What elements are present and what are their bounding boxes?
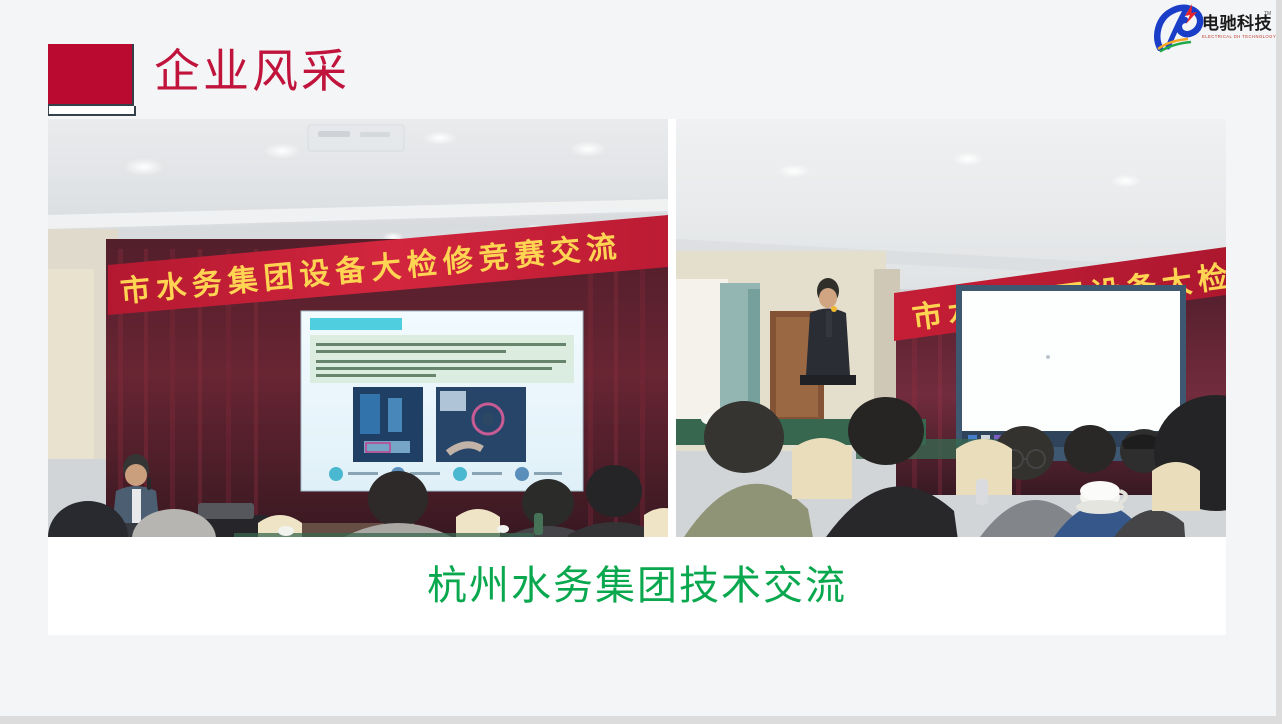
company-logo: 电驰科技 ELECTRICAL DH TECHNOLOGY TM — [1152, 2, 1276, 54]
logo-wordmark: 电驰科技 ELECTRICAL DH TECHNOLOGY TM — [1202, 11, 1276, 39]
title-accent-block — [48, 44, 134, 106]
logo-ribbon — [1158, 39, 1191, 52]
svg-text:TM: TM — [1264, 11, 1271, 17]
title-accent-underline — [48, 106, 136, 116]
slide-canvas: 企业风采 电驰科技 ELECTRICAL DH TECHNOLOGY TM — [0, 0, 1276, 716]
gallery-caption-area: 杭州水务集团技术交流 — [48, 537, 1226, 635]
svg-text:ELECTRICAL DH TECHNOLOGY: ELECTRICAL DH TECHNOLOGY — [1202, 34, 1276, 39]
canvas-edge-bottom — [0, 716, 1282, 724]
svg-text:电驰科技: 电驰科技 — [1202, 13, 1272, 33]
gallery-photo-right[interactable]: 市水务集团设备大检修竞赛交 — [676, 119, 1226, 537]
gallery-photo-left[interactable]: 市水务集团设备大检修竞赛交流 市水务集团设备大检修竞赛交流 — [48, 119, 668, 537]
gallery-card: 市水务集团设备大检修竞赛交流 市水务集团设备大检修竞赛交流 — [48, 119, 1226, 635]
photo-row: 市水务集团设备大检修竞赛交流 市水务集团设备大检修竞赛交流 — [48, 119, 1226, 537]
canvas-edge-right — [1276, 0, 1282, 724]
gallery-caption: 杭州水务集团技术交流 — [427, 566, 847, 606]
page-title: 企业风采 — [154, 36, 350, 108]
page-header: 企业风采 — [48, 42, 688, 114]
